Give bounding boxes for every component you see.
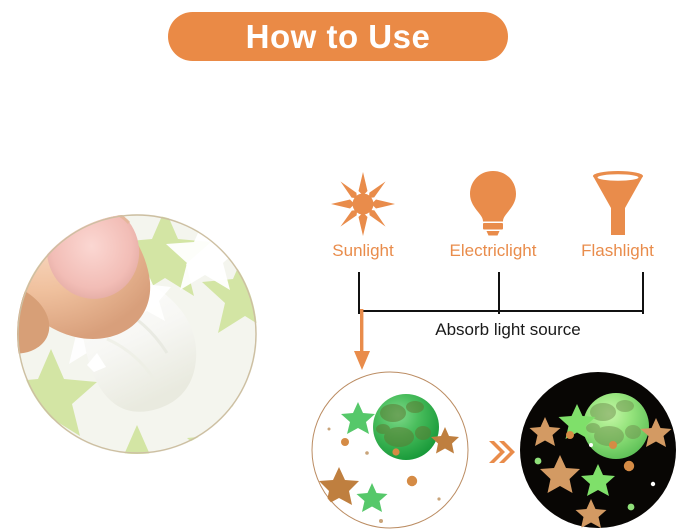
page-title-banner: How to Use: [168, 12, 508, 61]
source-label-sunlight: Sunlight: [305, 240, 421, 262]
bracket-drop-line-2: [498, 272, 500, 314]
source-label-electriclight: Electriclight: [428, 240, 558, 262]
source-flashlight: Flashlight: [560, 170, 675, 262]
source-electriclight: Electriclight: [428, 170, 558, 262]
bracket-connector: [352, 268, 652, 316]
absorb-down-arrow-icon: [350, 309, 374, 371]
thumb-peeling-star-sticker-photo: [17, 189, 257, 479]
daylight-result-circle: [311, 371, 469, 529]
double-chevron-right-icon: [487, 439, 515, 465]
bracket-horizontal-line: [358, 310, 644, 312]
page-title: How to Use: [246, 20, 431, 53]
darkness-result-circle: [519, 371, 677, 529]
source-sunlight: Sunlight: [305, 170, 421, 262]
bracket-drop-line-1: [358, 272, 360, 314]
bracket-drop-line-3: [642, 272, 644, 314]
light-sources-row: Sunlight Electriclight: [305, 170, 675, 280]
how-to-use-infographic: How to Use: [0, 0, 679, 525]
sun-icon: [305, 170, 421, 236]
lightbulb-icon: [428, 170, 558, 236]
source-label-flashlight: Flashlight: [560, 240, 675, 262]
absorb-light-source-caption: Absorb light source: [418, 319, 598, 341]
flashlight-icon: [560, 170, 675, 236]
